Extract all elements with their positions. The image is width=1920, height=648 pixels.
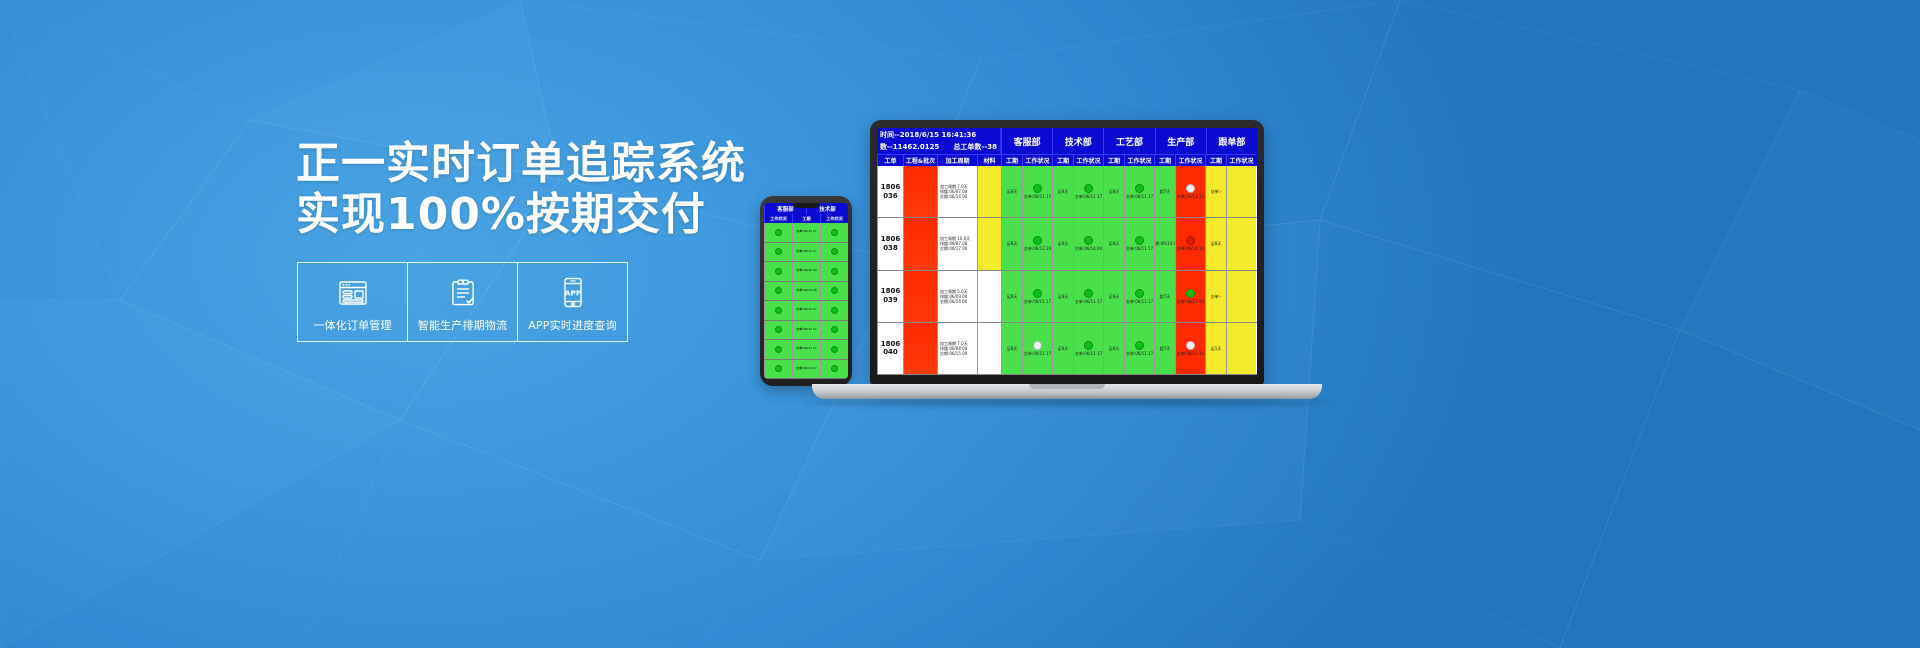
meta-time-row: 时间--2018/6/15 16:41:36 [880,130,997,140]
work-status-cell[interactable]: 交单:06/11 17 [1022,323,1052,374]
table-row[interactable]: 1806038加工周期 10.0天排缓:06/07 00交期:06/17 00足… [877,218,1257,270]
page-title: 正一实时订单追踪系统 实现100%按期交付 [296,138,716,240]
dashboard-header: 时间--2018/6/15 16:41:36 数--11462.0125 总工单… [877,128,1257,154]
order-tracking-dashboard: 时间--2018/6/15 16:41:36 数--11462.0125 总工单… [877,128,1257,375]
work-status-cell[interactable]: 交单:06/11 17 [1124,166,1154,217]
duration-cell: 足8天 [1052,323,1073,374]
phone-status-indicator [775,287,782,294]
meta-count-row: 数--11462.0125 总工单数--38 [880,142,997,152]
work-order-cell: 1806040 [877,323,903,374]
phone-status-cell[interactable] [764,321,792,340]
work-status-cell[interactable] [1226,323,1256,374]
status-detail: 交单:06/11 17 [1024,299,1051,304]
work-status-cell[interactable]: 交单:06/11 17 [1124,323,1154,374]
work-status-cell[interactable]: 交单:06/11 17 [1022,271,1052,322]
work-status-cell[interactable] [1226,271,1256,322]
duration-cell: 交单:- [1205,271,1226,322]
material-cell [977,166,1001,217]
status-indicator-white [1033,341,1042,350]
column-header-12[interactable]: 工期 [1205,154,1226,166]
status-indicator-white [1186,184,1195,193]
work-order-cell: 1806039 [877,271,903,322]
phone-notch [793,203,819,208]
laptop-mockup: 时间--2018/6/15 16:41:36 数--11462.0125 总工单… [812,120,1322,420]
status-indicator-green [1135,184,1144,193]
column-header-3[interactable]: 材料 [977,154,1001,166]
work-status-cell[interactable]: 交单:06/13 10 [1175,166,1205,217]
duration-cell: 超7天 [1154,323,1175,374]
column-header-13[interactable]: 工作状况 [1226,154,1256,166]
status-detail: 交单:06/11 17 [1075,351,1102,356]
column-header-8[interactable]: 工期 [1103,154,1124,166]
phone-status-cell[interactable] [764,262,792,281]
work-status-cell[interactable]: 交单:06/14 04 [1073,218,1103,269]
phone-status-indicator [775,307,782,314]
phone-column: 工作状况 [764,214,792,223]
work-status-cell[interactable]: 交单:06/11 17 [1022,166,1052,217]
column-header-4[interactable]: 工期 [1001,154,1022,166]
feature-label: 一体化订单管理 [313,317,391,333]
column-header-5[interactable]: 工作状况 [1022,154,1052,166]
duration-cell: 交单:- [1205,166,1226,217]
feature-item-production-scheduling[interactable]: 智能生产排期物流 [407,262,518,342]
status-detail: 交单:06/12 09 [1177,299,1204,304]
meta-count: 数--11462.0125 [880,142,939,152]
work-order-cell: 1806036 [877,166,903,217]
material-cell [977,218,1001,269]
meta-time: 时间--2018/6/15 16:41:36 [880,130,976,140]
status-detail: 交单:06/11 17 [1075,194,1102,199]
column-header-1[interactable]: 工程&批次 [903,154,937,166]
column-header-10[interactable]: 工期 [1154,154,1175,166]
department-header-list: 客服部技术部工艺部生产部跟单部 [1001,128,1257,154]
work-status-cell[interactable]: 交单:06/11 17 [1073,323,1103,374]
phone-status-indicator [775,346,782,353]
dashboard-meta: 时间--2018/6/15 16:41:36 数--11462.0125 总工单… [877,128,1001,154]
project-batch-cell [903,271,937,322]
phone-status-cell[interactable] [764,301,792,320]
phone-status-cell[interactable] [764,223,792,242]
duration-cell: 足8天 [1001,271,1022,322]
table-row[interactable]: 1806040加工周期 7.0天排缓:06/08 00交期:06/15 00足8… [877,323,1257,375]
phone-status-cell[interactable] [764,340,792,359]
duration-cell: 足8天 [1103,323,1124,374]
duration-cell: 足8天 [1205,218,1226,269]
department-4[interactable]: 跟单部 [1206,128,1257,154]
duration-cell: 足8天 [1001,323,1022,374]
laptop-screen: 时间--2018/6/15 16:41:36 数--11462.0125 总工单… [877,128,1257,375]
phone-status-indicator [775,326,782,333]
work-status-cell[interactable]: 交单:06/11 17 [1124,271,1154,322]
department-1[interactable]: 技术部 [1052,128,1103,154]
phone-app-icon: APP [562,276,584,310]
work-status-cell[interactable]: 交单:06/12 20 [1022,218,1052,269]
feature-label: APP实时进度查询 [528,317,617,333]
hero-banner: 正一实时订单追踪系统 实现100%按期交付 一体化订单管理 [0,0,1920,648]
laptop-shadow [804,399,1330,406]
duration-cell: 足8天 [1052,166,1073,217]
status-detail: 交单:06/13 10 [1177,194,1204,199]
work-status-cell[interactable]: 交单:06/13 10 [1175,323,1205,374]
department-0[interactable]: 客服部 [1001,128,1052,154]
hero-copy: 正一实时订单追踪系统 实现100%按期交付 [296,138,716,240]
column-header-9[interactable]: 工作状况 [1124,154,1154,166]
duration-cell: 超7天 [1154,166,1175,217]
feature-item-order-management[interactable]: 一体化订单管理 [297,262,408,342]
status-detail: 交单:06/11 17 [1126,351,1153,356]
phone-status-indicator [775,248,782,255]
material-cell [977,271,1001,322]
cycle-cell: 加工周期 7.0天排缓:06/08 00交期:06/15 00 [937,323,977,374]
duration-cell: 超7天 [1154,271,1175,322]
feature-item-app-progress-query[interactable]: APP APP实时进度查询 [517,262,628,342]
phone-status-indicator [775,268,782,275]
department-2[interactable]: 工艺部 [1103,128,1154,154]
clipboard-checklist-icon [449,276,477,310]
status-indicator-green [1033,289,1042,298]
status-indicator-green [1084,289,1093,298]
cycle-cell: 加工周期 7.0天排缓:06/07 00交期:06/14 00 [937,166,977,217]
laptop-base [812,384,1322,399]
duration-cell: 足8天 [1052,218,1073,269]
phone-status-cell[interactable] [764,282,792,301]
svg-text:APP: APP [564,289,581,298]
feature-list: 一体化订单管理 智能生产排期物流 [297,262,627,342]
status-indicator-green [1135,341,1144,350]
feature-label: 智能生产排期物流 [418,317,508,333]
status-indicator-green [1135,289,1144,298]
status-detail: 交单:06/14 14 [1177,246,1204,251]
project-batch-cell [903,218,937,269]
table-row[interactable]: 1806039加工周期 5.0天排缓:06/09 00交期:06/14 00足8… [877,271,1257,323]
work-status-cell[interactable]: 交单:06/11 17 [1073,271,1103,322]
column-header-6[interactable]: 工期 [1052,154,1073,166]
duration-cell: 足8天 [1103,166,1124,217]
status-indicator-green [1186,289,1195,298]
status-indicator-green [1033,236,1042,245]
material-cell [977,323,1001,374]
duration-cell: 足8天 [1001,218,1022,269]
column-header-row: 工单工程&批次加工周期材料工期工作状况工期工作状况工期工作状况工期工作状况工期工… [877,154,1257,166]
duration-cell: 足8天 [1052,271,1073,322]
duration-cell: 足8天 [1103,271,1124,322]
status-indicator-green [1033,184,1042,193]
laptop-lid: 时间--2018/6/15 16:41:36 数--11462.0125 总工单… [870,120,1264,385]
headline-line-1: 正一实时订单追踪系统 [296,138,746,189]
status-detail: 交单:06/13 10 [1177,351,1204,356]
status-indicator-green [1084,341,1093,350]
work-order-cell: 1806038 [877,218,903,269]
status-indicator-white [1186,341,1195,350]
status-detail: 交单:06/12 20 [1024,246,1051,251]
table-row[interactable]: 1806036加工周期 7.0天排缓:06/07 00交期:06/14 00足8… [877,166,1257,218]
status-detail: 交单:06/11 17 [1024,194,1051,199]
meta-total-orders: 总工单数--38 [953,142,997,152]
column-header-2[interactable]: 加工周期 [937,154,977,166]
work-status-cell[interactable] [1226,166,1256,217]
cycle-cell: 加工周期 10.0天排缓:06/07 00交期:06/17 00 [937,218,977,269]
status-detail: 交单:06/14 04 [1075,246,1102,251]
column-header-11[interactable]: 工作状况 [1175,154,1205,166]
department-3[interactable]: 生产部 [1155,128,1206,154]
dashboard-window-icon [338,276,368,310]
project-batch-cell [903,166,937,217]
work-status-cell[interactable]: 交单:06/14 14 [1175,218,1205,269]
cycle-cell: 加工周期 5.0天排缓:06/09 00交期:06/14 00 [937,271,977,322]
work-status-cell[interactable] [1226,218,1256,269]
status-indicator-green [1135,236,1144,245]
headline-line-2: 实现100%按期交付 [296,189,716,240]
status-indicator-green [1084,236,1093,245]
work-status-cell[interactable]: 交单:06/11 17 [1124,218,1154,269]
duration-cell: 工期:06/14 00 [1154,218,1175,269]
phone-status-indicator [775,229,782,236]
status-indicator-green [1084,184,1093,193]
column-header-7[interactable]: 工作状况 [1073,154,1103,166]
phone-status-cell[interactable] [764,360,792,379]
duration-cell: 足8天 [1103,218,1124,269]
status-indicator-red [1186,236,1195,245]
phone-status-cell[interactable] [764,243,792,262]
status-detail: 交单:06/11 17 [1024,351,1051,356]
work-status-cell[interactable]: 交单:06/11 17 [1073,166,1103,217]
project-batch-cell [903,323,937,374]
status-detail: 交单:06/11 17 [1126,194,1153,199]
column-header-0[interactable]: 工单 [877,154,903,166]
duration-cell: 足1天 [1205,323,1226,374]
phone-status-indicator [775,365,782,372]
status-detail: 交单:06/11 17 [1126,246,1153,251]
status-detail: 交单:06/11 17 [1075,299,1102,304]
status-detail: 交单:06/11 17 [1126,299,1153,304]
duration-cell: 足8天 [1001,166,1022,217]
dashboard-row-list: 1806036加工周期 7.0天排缓:06/07 00交期:06/14 00足8… [877,166,1257,375]
work-status-cell[interactable]: 交单:06/12 09 [1175,271,1205,322]
